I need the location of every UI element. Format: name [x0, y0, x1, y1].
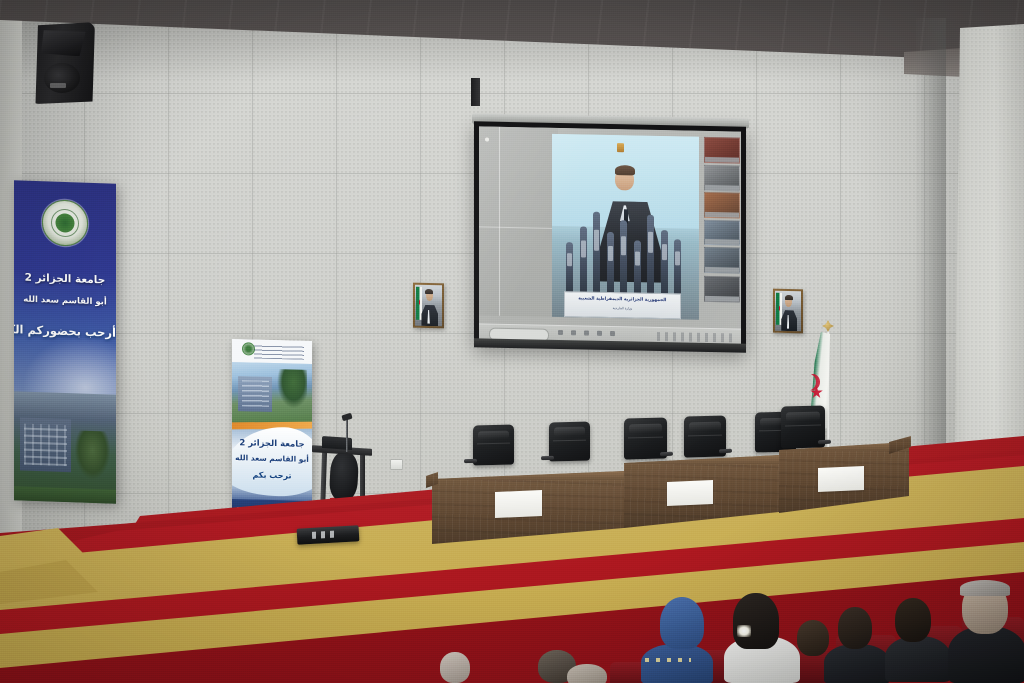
portrait-left-hair [425, 289, 433, 294]
chair-3-armrest [660, 452, 673, 457]
projection-screen: الجمهورية الجزائرية الديمقراطية الشعبية … [474, 121, 746, 351]
equipment-bag [329, 452, 360, 500]
thumbnail-2 [704, 165, 740, 191]
chair-2 [549, 421, 590, 461]
rollup-palm-tree [277, 369, 307, 409]
portrait-left [413, 283, 444, 329]
banner-building [20, 418, 71, 472]
thumbnail-1 [704, 137, 740, 163]
portrait-left-suit [421, 305, 438, 327]
video-speaker-hair [615, 165, 635, 175]
chair-2-armrest [541, 456, 554, 460]
rollup-seal-icon [242, 342, 255, 355]
table-paper-3 [818, 466, 864, 492]
phone-person-hair [733, 593, 779, 649]
chair-6-armrest [818, 440, 831, 445]
rollup-header [232, 339, 312, 364]
rollup-line-2: أبو القاسم سعد الله [232, 453, 312, 464]
chair-1-armrest [464, 459, 477, 463]
portrait-right-flag [776, 293, 782, 325]
video-caption-main: الجمهورية الجزائرية الديمقراطية الشعبية [565, 296, 679, 303]
banner-line-1: جامعة الجزائر 2 [14, 271, 116, 287]
rollup-campus-photo [232, 362, 312, 427]
rollup-line-1: جامعة الجزائر 2 [232, 438, 312, 450]
portrait-left-flag [416, 287, 422, 320]
uniform-cap-icon [660, 597, 704, 649]
video-podium-panel: الجمهورية الجزائرية الديمقراطية الشعبية … [564, 292, 680, 320]
browser-left-area [479, 126, 558, 317]
rollup-building [238, 376, 272, 412]
chair-2-backrest [549, 421, 590, 461]
banner-line-2: أبو القاسم سعد الله [14, 294, 116, 308]
speaker-bracket [471, 78, 480, 106]
person-6-hair [960, 580, 1010, 596]
video-microphone-cluster [558, 200, 693, 294]
person-4-head [838, 607, 872, 649]
portrait-right [773, 289, 803, 334]
person-7-head [797, 620, 829, 656]
page-marker-dot [485, 138, 489, 142]
video-player-frame: الجمهورية الجزائرية الديمقراطية الشعبية … [552, 134, 699, 320]
thumbnail-5 [704, 247, 740, 273]
conference-hall-photo: جامعة الجزائر 2 أبو القاسم سعد الله أرحب… [0, 0, 1024, 683]
rollup-header-text-lines [254, 343, 304, 359]
speaker-cone [44, 63, 80, 93]
university-vertical-banner: جامعة الجزائر 2 أبو القاسم سعد الله أرحب… [14, 180, 116, 504]
portrait-left-image [415, 285, 442, 327]
chair-4-armrest [719, 449, 732, 454]
thumbnail-4 [704, 220, 740, 246]
person-1-head [440, 652, 470, 683]
rollup-line-3: ترحب بكم [232, 470, 312, 481]
person-6-shoulders [948, 626, 1024, 683]
uniform-shoulders [641, 644, 713, 683]
thumbnail-3 [704, 192, 740, 218]
chair-1 [473, 424, 514, 465]
university-seal-logo [42, 199, 88, 247]
person-5-head [895, 598, 931, 642]
portrait-right-hair [785, 295, 793, 300]
video-caption-sub: وزارة الخارجية [565, 305, 679, 311]
person-3-head [567, 664, 607, 683]
taskbar-tray-icons [657, 332, 736, 342]
table-paper-1 [495, 490, 542, 518]
thumbnail-6 [704, 276, 740, 302]
portrait-right-image [775, 291, 801, 332]
pa-loudspeaker [33, 22, 95, 104]
flag-crescent-icon [806, 374, 820, 390]
speaker-horn [41, 30, 86, 56]
banner-tree [75, 431, 110, 480]
video-sidebar-thumbnails [704, 137, 738, 320]
projection-screen-surface: الجمهورية الجزائرية الديمقراطية الشعبية … [479, 126, 741, 346]
microphone-stand [346, 418, 348, 452]
person-5-shoulders [885, 636, 951, 682]
speaker-brand-badge [50, 83, 66, 89]
chair-1-backrest [473, 424, 514, 465]
table-paper-2 [667, 480, 713, 506]
video-wall-ornament [617, 143, 624, 152]
banner-campus-photo [14, 391, 116, 503]
portrait-right-suit [781, 310, 797, 331]
uniform-insignia [645, 658, 691, 662]
phone-screen-glow [737, 625, 751, 637]
person-4-shoulders [824, 644, 890, 683]
browser-page: الجمهورية الجزائرية الديمقراطية الشعبية … [479, 126, 741, 346]
